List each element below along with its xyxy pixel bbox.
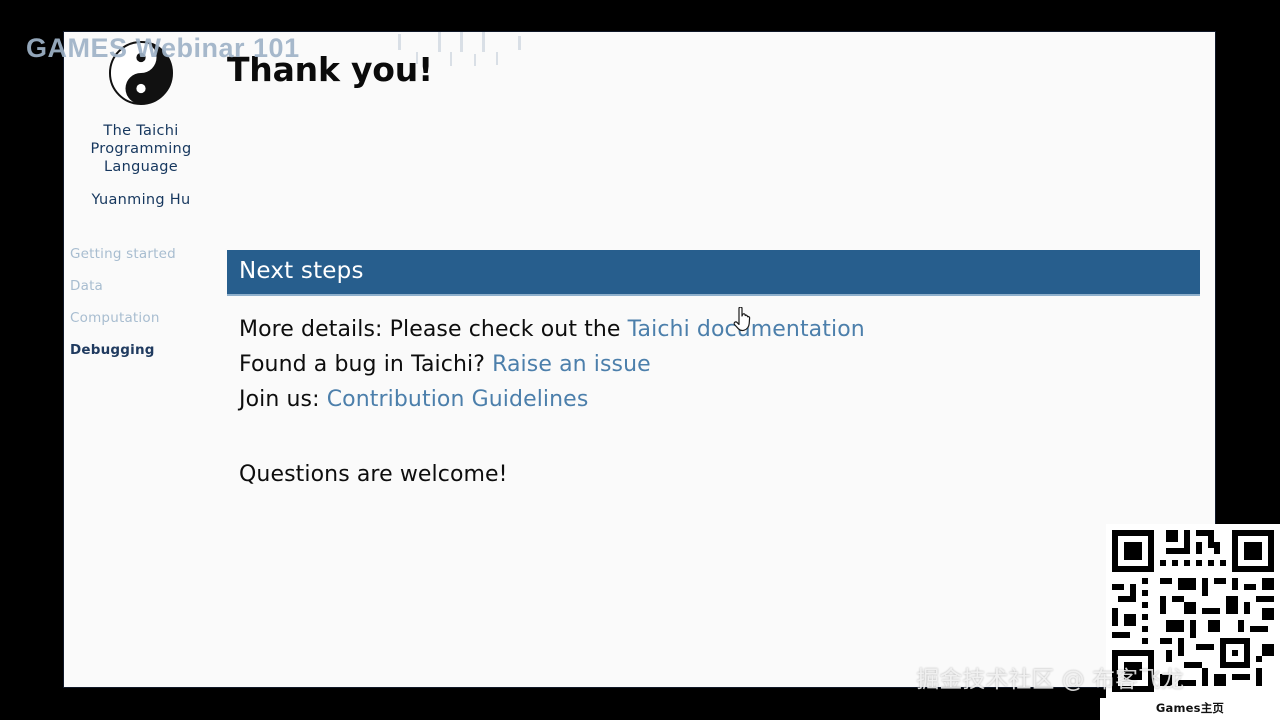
sidebar-title-line-1: The Taichi <box>64 122 218 140</box>
taichi-documentation-link[interactable]: Taichi documentation <box>628 317 865 342</box>
line-2-prefix: Found a bug in Taichi? <box>239 352 492 377</box>
line-3-prefix: Join us: <box>239 387 327 412</box>
sidebar-title-line-3: Language <box>64 158 218 176</box>
slide-sidebar: The Taichi Programming Language Yuanming… <box>64 32 218 687</box>
list-item: Found a bug in Taichi? Raise an issue <box>239 347 1188 382</box>
presentation-slide: The Taichi Programming Language Yuanming… <box>64 32 1215 687</box>
sidebar-title-line-2: Programming <box>64 140 218 158</box>
qr-code-panel: Games主页 <box>1100 524 1280 720</box>
sidebar-author: Yuanming Hu <box>64 192 218 208</box>
list-item: More details: Please check out the Taich… <box>239 312 1188 347</box>
slide-content: Thank you! Next steps More details: Plea… <box>218 32 1215 687</box>
line-1-prefix: More details: Please check out the <box>239 317 628 342</box>
raise-an-issue-link[interactable]: Raise an issue <box>492 352 651 377</box>
video-player[interactable]: GAMES Webinar 101 The Taichi Programming… <box>0 0 1280 720</box>
qr-code-icon <box>1106 524 1280 698</box>
contribution-guidelines-link[interactable]: Contribution Guidelines <box>327 387 589 412</box>
sidebar-navigation: Getting started Data Computation Debuggi… <box>64 238 218 366</box>
next-steps-block: Next steps More details: Please check ou… <box>227 250 1200 417</box>
block-header-title: Next steps <box>227 250 1200 296</box>
closing-line: Questions are welcome! <box>239 462 508 487</box>
sidebar-item-computation[interactable]: Computation <box>70 302 218 334</box>
qr-code-caption: Games主页 <box>1100 698 1280 720</box>
sidebar-item-data[interactable]: Data <box>70 270 218 302</box>
list-item: Join us: Contribution Guidelines <box>239 382 1188 417</box>
sidebar-item-debugging[interactable]: Debugging <box>70 334 218 366</box>
page-title: Thank you! <box>227 50 433 89</box>
sidebar-presentation-title: The Taichi Programming Language <box>64 122 218 176</box>
block-body: More details: Please check out the Taich… <box>227 296 1200 417</box>
taichi-yinyang-icon <box>108 40 174 106</box>
sidebar-item-getting-started[interactable]: Getting started <box>70 238 218 270</box>
